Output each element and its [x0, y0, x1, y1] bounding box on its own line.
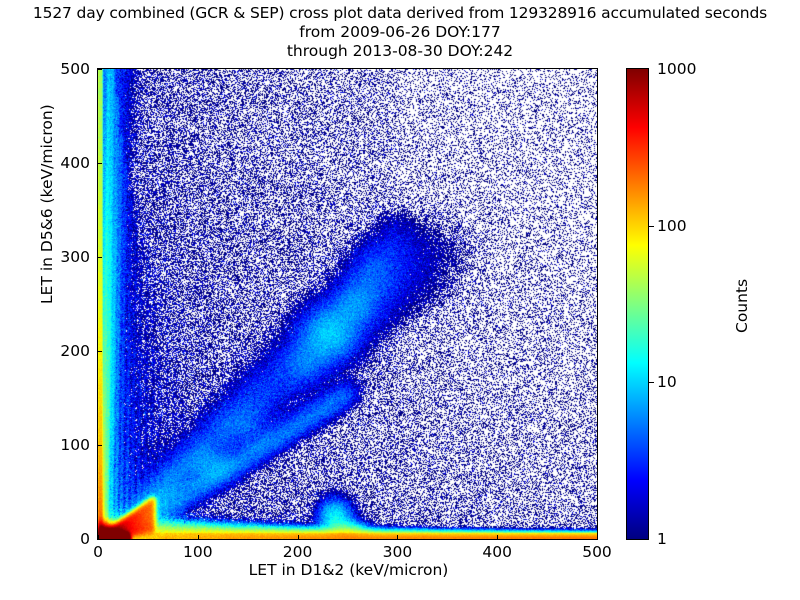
y-tick-mark [98, 351, 102, 352]
colorbar-tick-mark [649, 382, 654, 383]
y-tick-mark [98, 69, 102, 70]
x-tick-mark [497, 535, 498, 539]
colorbar-gradient [627, 69, 648, 539]
x-tick-mark [198, 535, 199, 539]
x-tick-label: 500 [582, 543, 612, 561]
x-tick-label: 400 [482, 543, 512, 561]
x-axis-label: LET in D1&2 (keV/micron) [0, 561, 800, 579]
colorbar-tick-mark [649, 226, 654, 227]
y-axis-label: LET in D5&6 (keV/micron) [38, 104, 56, 304]
colorbar-tick-label: 1000 [657, 60, 696, 78]
x-tick-mark [298, 535, 299, 539]
colorbar [626, 68, 649, 540]
y-tick-label: 200 [35, 342, 90, 360]
x-tick-label: 200 [283, 543, 313, 561]
y-tick-mark [98, 539, 102, 540]
chart-title-line-1: 1527 day combined (GCR & SEP) cross plot… [0, 4, 800, 23]
colorbar-title: Counts [733, 279, 751, 333]
chart-title-line-2: from 2009-06-26 DOY:177 [0, 23, 800, 42]
y-axis-label-text: LET in D5&6 (keV/micron) [38, 104, 56, 304]
x-tick-mark [597, 535, 598, 539]
y-tick-label: 100 [35, 436, 90, 454]
y-tick-label: 500 [35, 60, 90, 78]
y-tick-mark [98, 445, 102, 446]
chart-title-line-3: through 2013-08-30 DOY:242 [0, 42, 800, 61]
x-tick-label: 300 [383, 543, 413, 561]
x-tick-label: 100 [183, 543, 213, 561]
x-tick-label: 0 [93, 543, 103, 561]
colorbar-title-text: Counts [733, 279, 751, 333]
plot-area [97, 68, 598, 540]
x-tick-mark [397, 535, 398, 539]
density-heatmap [98, 69, 597, 539]
colorbar-tick-label: 1 [657, 530, 667, 548]
y-tick-mark [98, 257, 102, 258]
colorbar-tick-label: 10 [657, 373, 677, 391]
y-tick-label: 0 [35, 530, 90, 548]
figure-canvas: 1527 day combined (GCR & SEP) cross plot… [0, 0, 800, 600]
chart-title: 1527 day combined (GCR & SEP) cross plot… [0, 4, 800, 61]
x-axis-label-text: LET in D1&2 (keV/micron) [249, 561, 449, 579]
y-tick-mark [98, 163, 102, 164]
colorbar-tick-label: 100 [657, 217, 687, 235]
